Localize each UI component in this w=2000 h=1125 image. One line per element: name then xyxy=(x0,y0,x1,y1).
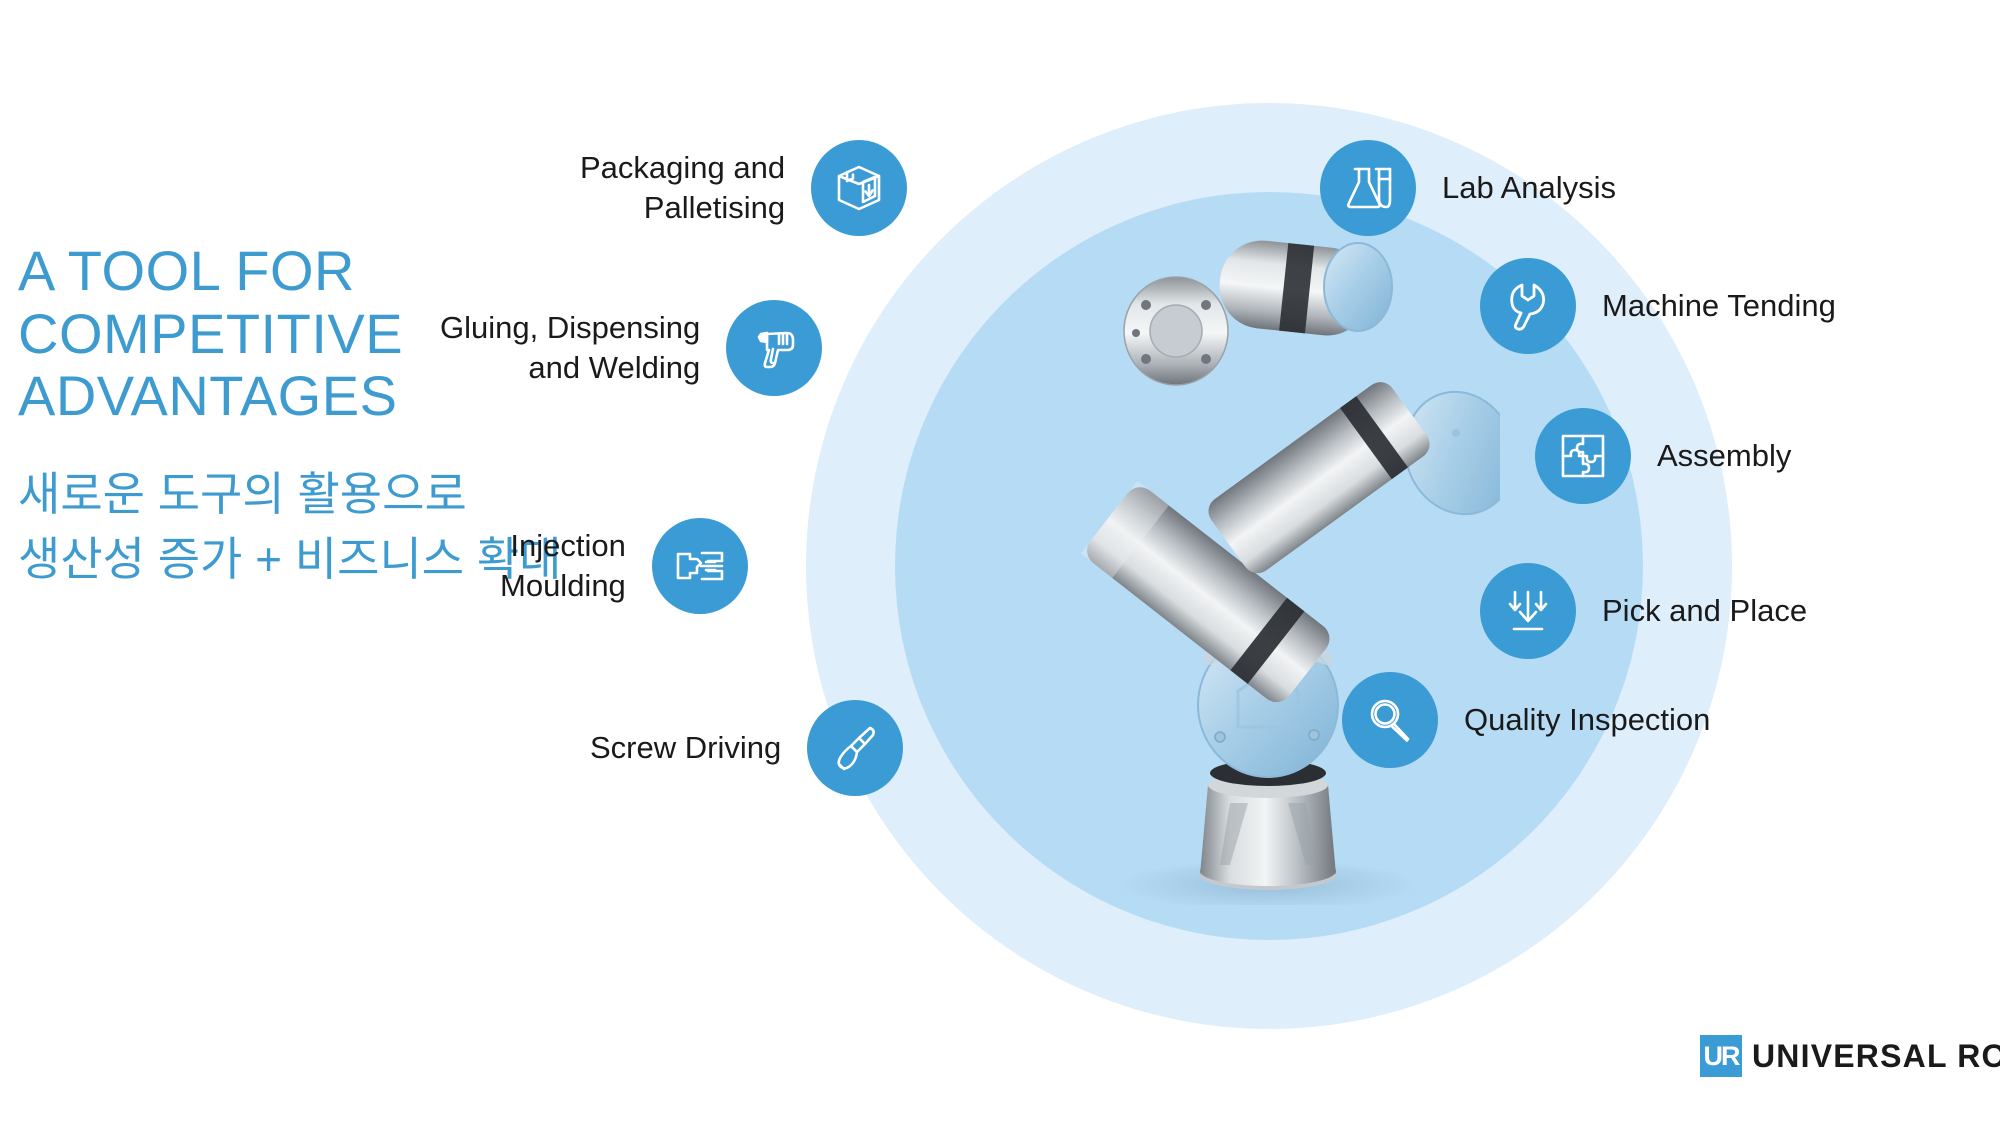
callout-quality-inspection[interactable]: Quality Inspection xyxy=(1342,672,1710,768)
robot-arm-illustration xyxy=(1080,185,1500,905)
injection-moulding-icon[interactable] xyxy=(652,518,748,614)
glue-gun-icon[interactable] xyxy=(726,300,822,396)
puzzle-piece-icon[interactable] xyxy=(1535,408,1631,504)
callout-label: Assembly xyxy=(1657,436,1791,476)
callout-injection-moulding[interactable]: Injection Moulding xyxy=(500,518,748,614)
callout-machine-tending[interactable]: Machine Tending xyxy=(1480,258,1836,354)
callout-label: Packaging and Palletising xyxy=(580,148,785,227)
universal-robots-logo: UR UNIVERSAL ROBOTS xyxy=(1700,1035,2000,1077)
callout-label: Lab Analysis xyxy=(1442,168,1616,208)
callout-label: Machine Tending xyxy=(1602,286,1836,326)
callout-label: Gluing, Dispensing and Welding xyxy=(440,308,700,387)
callout-gluing-dispensing-and-welding[interactable]: Gluing, Dispensing and Welding xyxy=(440,300,822,396)
ur-wordmark: UNIVERSAL ROBOTS xyxy=(1752,1038,2000,1075)
callout-packaging-and-palletising[interactable]: Packaging and Palletising xyxy=(580,140,907,236)
down-arrows-to-line-icon[interactable] xyxy=(1480,563,1576,659)
wrench-icon[interactable] xyxy=(1480,258,1576,354)
ur-mark-icon: UR xyxy=(1700,1035,1742,1077)
box-with-down-arrow-icon[interactable] xyxy=(811,140,907,236)
lab-flask-test-tube-icon[interactable] xyxy=(1320,140,1416,236)
magnifying-glass-icon[interactable] xyxy=(1342,672,1438,768)
callout-label: Injection Moulding xyxy=(500,526,626,605)
callout-assembly[interactable]: Assembly xyxy=(1535,408,1791,504)
slide-canvas: A TOOL FOR COMPETITIVE ADVANTAGES 새로운 도구… xyxy=(0,0,2000,1125)
screwdriver-icon[interactable] xyxy=(807,700,903,796)
callout-label: Screw Driving xyxy=(590,728,781,768)
callout-screw-driving[interactable]: Screw Driving xyxy=(590,700,903,796)
ur-mark-label: UR xyxy=(1700,1035,1742,1077)
callout-label: Pick and Place xyxy=(1602,591,1807,631)
callout-lab-analysis[interactable]: Lab Analysis xyxy=(1320,140,1616,236)
callout-label: Quality Inspection xyxy=(1464,700,1710,740)
callout-pick-and-place[interactable]: Pick and Place xyxy=(1480,563,1807,659)
